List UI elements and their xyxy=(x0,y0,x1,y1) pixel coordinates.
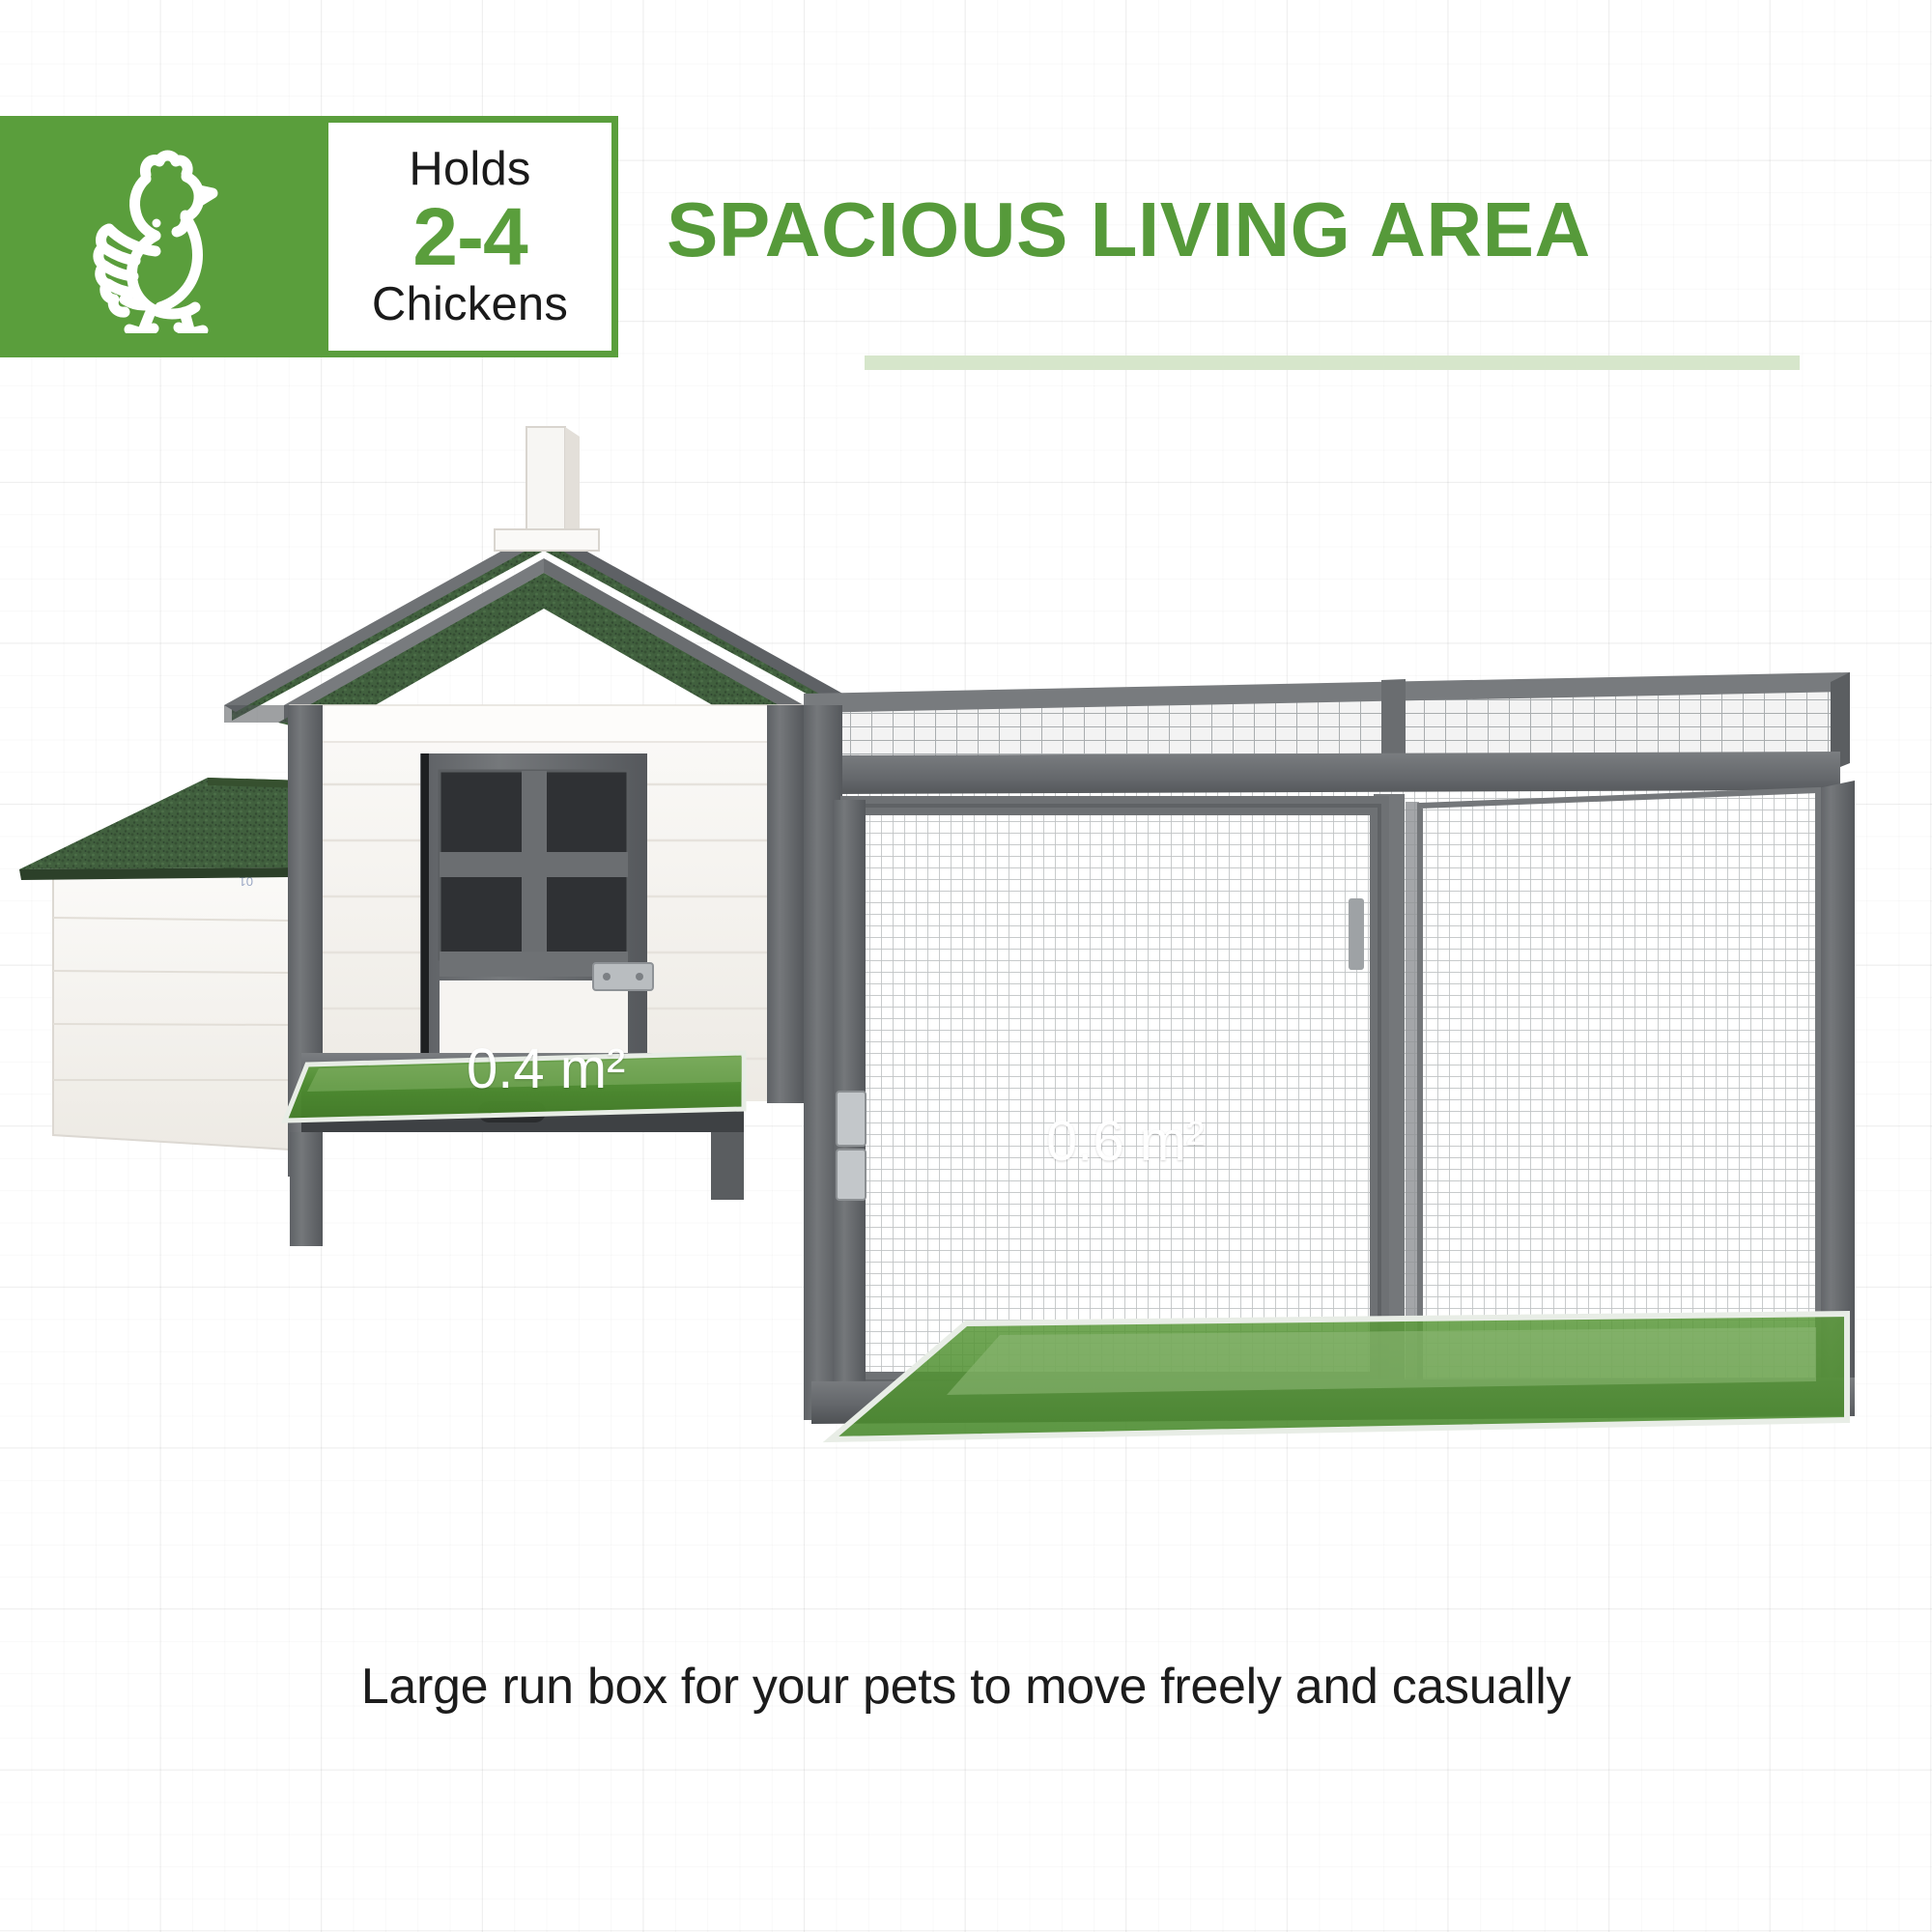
nesting-box: 01 xyxy=(19,778,304,1150)
badge-holds-label: Holds xyxy=(409,146,530,193)
product-image: 01 xyxy=(0,415,1932,1623)
badge-icon-panel xyxy=(0,116,328,357)
coop-house xyxy=(224,427,864,1246)
run-area-value: 0.6 m² xyxy=(1046,1109,1205,1174)
run-enclosure xyxy=(804,672,1855,1424)
chicken-icon xyxy=(48,140,280,333)
headline-underline-rule xyxy=(865,355,1800,370)
badge-text-panel: Holds 2-4 Chickens xyxy=(328,116,618,357)
roof-vent xyxy=(495,427,599,551)
badge-unit-label: Chickens xyxy=(372,281,568,328)
badge-capacity-count: 2-4 xyxy=(412,196,526,277)
run-door xyxy=(833,800,1379,1387)
run-area-overlay xyxy=(831,1314,1847,1439)
chicken-coop-illustration: 01 xyxy=(0,415,1932,1623)
feature-caption: Large run box for your pets to move free… xyxy=(0,1658,1932,1716)
page-title: SPACIOUS LIVING AREA xyxy=(667,189,1913,270)
headline-block: SPACIOUS LIVING AREA xyxy=(667,189,1913,270)
capacity-badge: Holds 2-4 Chickens xyxy=(0,116,618,357)
coop-area-value: 0.4 m² xyxy=(467,1037,625,1101)
